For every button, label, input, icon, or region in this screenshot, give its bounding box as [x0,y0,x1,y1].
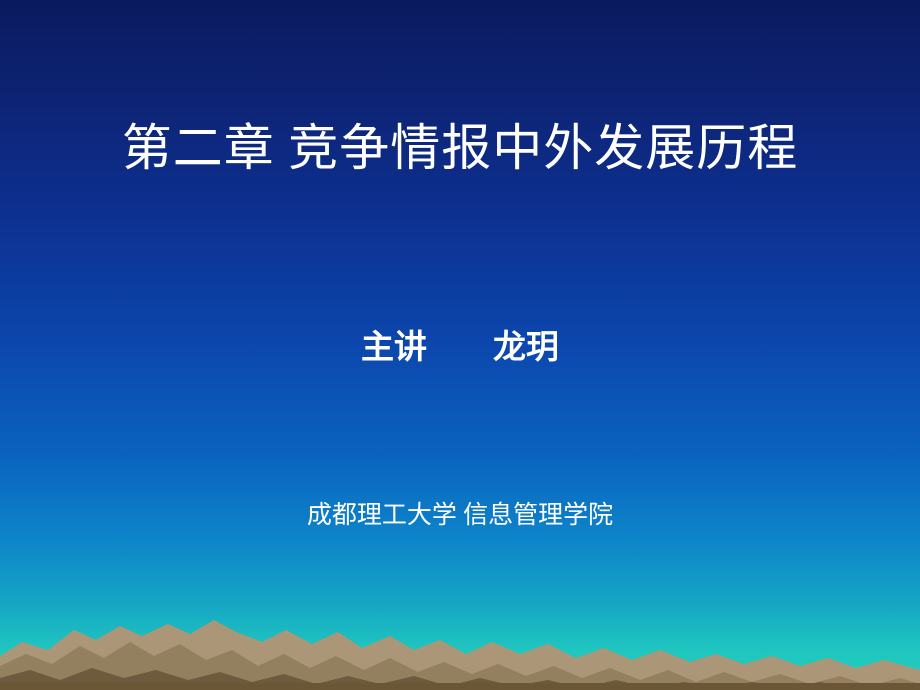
page-title: 第二章 竞争情报中外发展历程 [0,118,920,178]
affiliation-text: 成都理工大学 信息管理学院 [0,495,920,531]
mountain-range-graphic [0,570,920,690]
presentation-slide: 第二章 竞争情报中外发展历程 主讲 龙玥 成都理工大学 信息管理学院 [0,0,920,690]
presenter-line: 主讲 龙玥 [0,320,920,368]
ground-base [0,683,920,690]
